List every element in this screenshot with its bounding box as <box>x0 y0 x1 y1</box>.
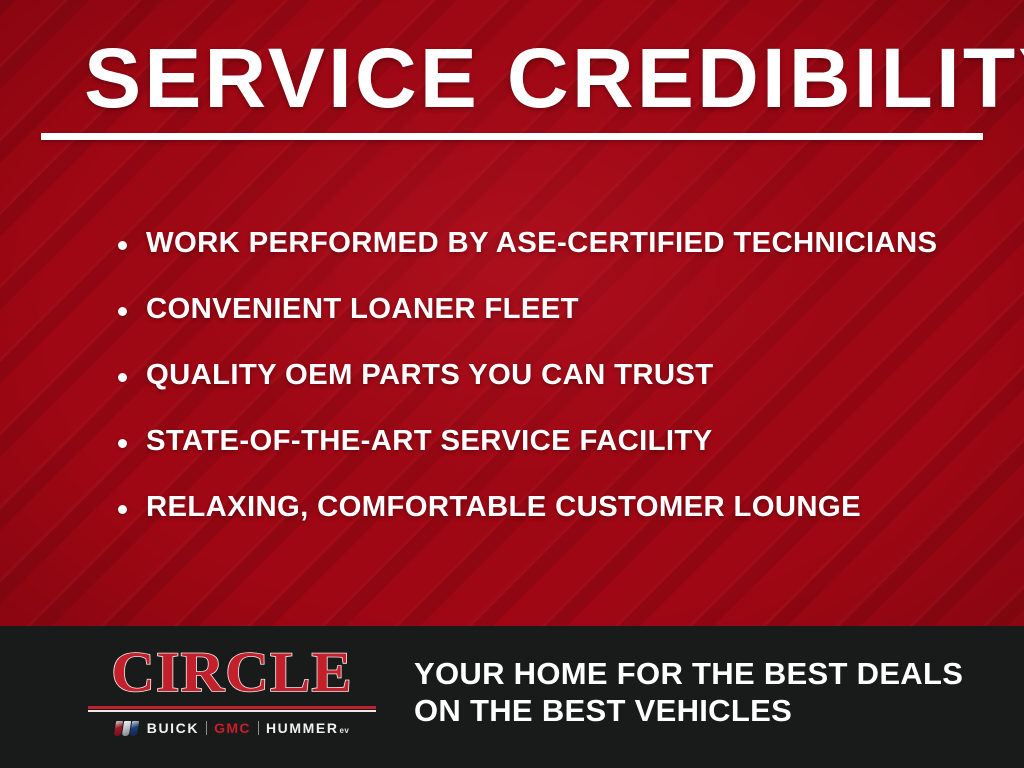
feature-bullet-list: WORK PERFORMED BY ASE-CERTIFIED TECHNICI… <box>118 226 998 556</box>
footer-tagline: YOUR HOME FOR THE BEST DEALS ON THE BEST… <box>414 655 963 729</box>
buick-trishield-icon <box>115 721 139 736</box>
list-item-label: QUALITY OEM PARTS YOU CAN TRUST <box>146 358 714 392</box>
brand-separator <box>206 721 207 735</box>
list-item-label: RELAXING, COMFORTABLE CUSTOMER LOUNGE <box>146 490 861 524</box>
brand-label-hummer: HUMMER <box>266 721 339 735</box>
list-item: WORK PERFORMED BY ASE-CERTIFIED TECHNICI… <box>118 226 998 292</box>
slide-root: SERVICE CREDIBILITY WORK PERFORMED BY AS… <box>0 0 1024 768</box>
dealer-logo[interactable]: CIRCLE BUICK GMC HUMMER ev <box>88 644 376 737</box>
footer-tagline-line-1: YOUR HOME FOR THE BEST DEALS <box>414 655 963 692</box>
bullet-dot-icon <box>118 307 127 316</box>
list-item-label: WORK PERFORMED BY ASE-CERTIFIED TECHNICI… <box>146 226 937 260</box>
footer-tagline-line-2: ON THE BEST VEHICLES <box>414 692 963 729</box>
dealer-logo-wordmark: CIRCLE <box>79 644 384 701</box>
brand-separator <box>258 721 259 735</box>
brand-label-hummer-ev-suffix: ev <box>340 726 350 735</box>
list-item: CONVENIENT LOANER FLEET <box>118 292 998 358</box>
page-title: SERVICE CREDIBILITY <box>84 36 1002 120</box>
brand-label-gmc: GMC <box>214 721 251 735</box>
brand-label-buick: BUICK <box>147 721 199 735</box>
bullet-dot-icon <box>118 439 127 448</box>
bullet-dot-icon <box>118 373 127 382</box>
list-item-label: CONVENIENT LOANER FLEET <box>146 292 579 326</box>
list-item: RELAXING, COMFORTABLE CUSTOMER LOUNGE <box>118 490 998 556</box>
logo-rule-red <box>88 706 376 709</box>
logo-divider-rules <box>88 706 376 712</box>
list-item-label: STATE-OF-THE-ART SERVICE FACILITY <box>146 424 713 458</box>
bullet-dot-icon <box>118 505 127 514</box>
list-item: QUALITY OEM PARTS YOU CAN TRUST <box>118 358 998 424</box>
footer-bar: CIRCLE BUICK GMC HUMMER ev YOUR HOME FOR… <box>0 626 1024 768</box>
logo-rule-white <box>88 710 376 712</box>
list-item: STATE-OF-THE-ART SERVICE FACILITY <box>118 424 998 490</box>
bullet-dot-icon <box>118 241 127 250</box>
title-underline-rule <box>41 133 983 140</box>
brand-strip: BUICK GMC HUMMER ev <box>88 719 376 737</box>
